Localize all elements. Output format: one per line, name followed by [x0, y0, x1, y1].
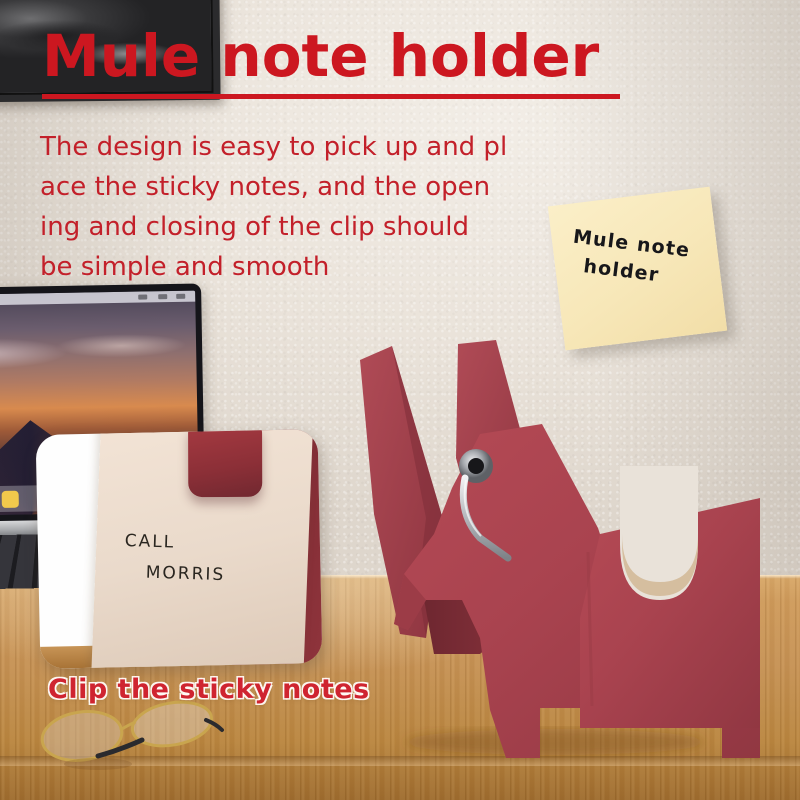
- inset-caption: Clip the sticky notes: [48, 674, 370, 705]
- laptop-menubar: [0, 291, 195, 307]
- clip-pivot-hole: [468, 458, 484, 474]
- description-line-4: be simple and smooth: [40, 247, 560, 287]
- title-underline: [42, 94, 620, 99]
- description-text: The design is easy to pick up and pl ace…: [40, 127, 560, 287]
- description-line-3: ing and closing of the clip should: [40, 207, 560, 247]
- product-marketing-image: Mule note holder: [0, 0, 800, 800]
- description-line-2: ace the sticky notes, and the open: [40, 167, 560, 207]
- eyeglasses-icon: [38, 700, 228, 770]
- wallpaper-clouds: [0, 321, 199, 384]
- inset-note-handwriting: CALL MORRIS: [123, 529, 285, 590]
- mule-desk-shadow: [405, 729, 705, 755]
- inset-note-line-2: MORRIS: [145, 560, 284, 590]
- inset-clip-jaw: [188, 429, 262, 497]
- sticky-note-text: Mule note holder: [568, 224, 710, 295]
- inset-note-line-1: CALL: [124, 529, 285, 560]
- sticky-note: Mule note holder: [548, 187, 727, 351]
- notes-dock-icon: [2, 490, 19, 507]
- description-line-1: The design is easy to pick up and pl: [40, 127, 560, 167]
- page-title: Mule note holder: [42, 22, 599, 90]
- mule-note-holder-product: [330, 338, 760, 758]
- inset-closeup-panel: CALL MORRIS: [36, 429, 323, 669]
